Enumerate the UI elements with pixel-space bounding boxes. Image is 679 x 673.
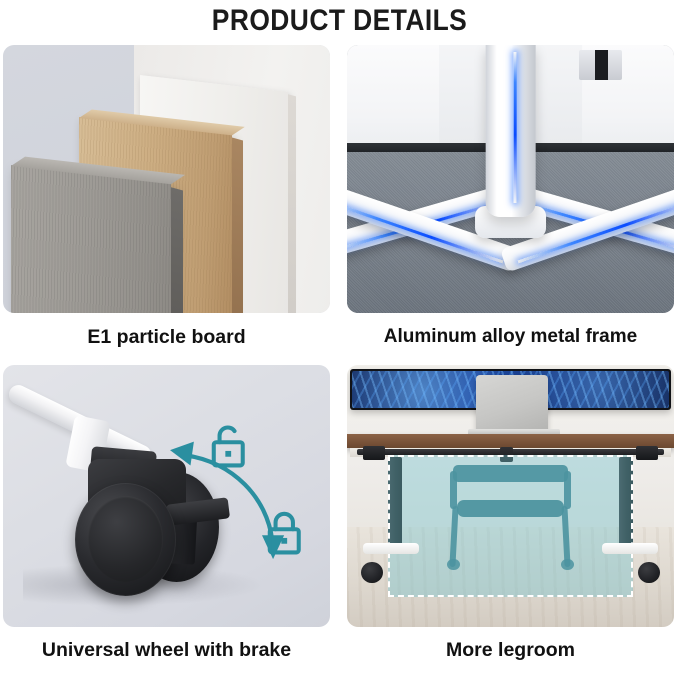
page-title: PRODUCT DETAILS bbox=[41, 0, 639, 42]
desk-top-surface bbox=[347, 434, 674, 448]
led-strip-column bbox=[514, 52, 517, 203]
photo-more-legroom bbox=[347, 365, 674, 627]
oak-board-side-edge bbox=[232, 138, 243, 313]
caption-e1-particle-board: E1 particle board bbox=[3, 313, 330, 361]
frame-scene bbox=[347, 45, 674, 313]
boards-scene bbox=[3, 45, 330, 313]
gray-board-side-edge bbox=[171, 187, 183, 313]
desk-scene bbox=[347, 365, 674, 627]
frame-clip bbox=[579, 50, 622, 79]
desk-caster-left bbox=[361, 562, 383, 584]
desk-foot-bar-left bbox=[363, 543, 419, 554]
page-title-wrap: PRODUCT DETAILS bbox=[0, 0, 679, 42]
caption-aluminum-frame: Aluminum alloy metal frame bbox=[347, 313, 674, 361]
desk-bracket-left bbox=[363, 446, 384, 460]
laptop bbox=[476, 375, 548, 433]
white-board-edge bbox=[288, 94, 296, 313]
photo-universal-wheel bbox=[3, 365, 330, 627]
desk-bracket-right bbox=[636, 446, 657, 460]
caption-universal-wheel: Universal wheel with brake bbox=[3, 627, 330, 673]
detail-card-universal-wheel: Universal wheel with brake bbox=[3, 365, 330, 673]
photo-e1-particle-board bbox=[3, 45, 330, 313]
desk-foot-left bbox=[363, 543, 419, 585]
padlock-closed-icon bbox=[263, 508, 306, 558]
caption-more-legroom: More legroom bbox=[347, 627, 674, 673]
desk-foot-bar-right bbox=[602, 543, 658, 554]
legroom-highlight-area bbox=[388, 455, 633, 596]
detail-card-e1-particle-board: E1 particle board bbox=[3, 45, 330, 361]
detail-card-aluminum-frame: Aluminum alloy metal frame bbox=[347, 45, 674, 361]
padlock-open-icon bbox=[207, 421, 250, 471]
photo-aluminum-frame bbox=[347, 45, 674, 313]
product-details-infographic: PRODUCT DETAILS E1 particle board bbox=[0, 0, 679, 673]
wheel-scene bbox=[3, 365, 330, 627]
desk-foot-right bbox=[602, 543, 658, 585]
frame-center-column bbox=[485, 45, 536, 217]
detail-card-more-legroom: More legroom bbox=[347, 365, 674, 673]
gray-board bbox=[11, 165, 171, 313]
desk-caster-right bbox=[638, 562, 660, 584]
